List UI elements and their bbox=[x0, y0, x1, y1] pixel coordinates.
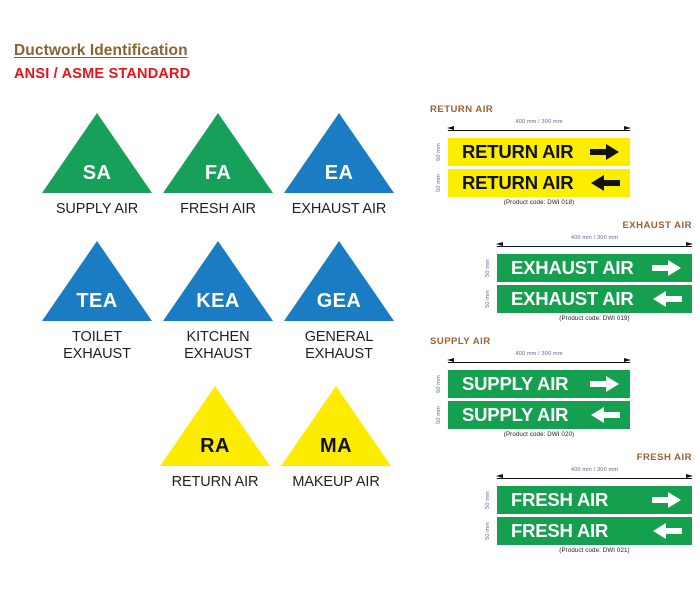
height-dimension: 50 mm bbox=[479, 254, 497, 282]
product-code: (Product code: DWI 019) bbox=[497, 315, 692, 322]
legend-item-ea: EA EXHAUST AIR bbox=[282, 112, 396, 218]
page-subtitle: ANSI / ASME STANDARD bbox=[14, 66, 190, 82]
marker-section-heading: SUPPLY AIR bbox=[430, 336, 692, 347]
width-dimension-label: 400 mm / 300 mm bbox=[497, 235, 692, 241]
marker-band-label: FRESH AIR bbox=[511, 489, 648, 511]
legend-row: SA SUPPLY AIR FA FRESH AIR E bbox=[40, 112, 410, 218]
legend-caption: SUPPLY AIR bbox=[56, 201, 138, 218]
marker-band-right: FRESH AIR bbox=[497, 486, 692, 514]
height-dimension: 50 mm bbox=[479, 285, 497, 313]
width-dimension: 400 mm / 300 mm bbox=[448, 120, 630, 135]
marker-band-left: FRESH AIR bbox=[497, 517, 692, 545]
triangle-sa: SA bbox=[41, 112, 153, 194]
triangle-code: FA bbox=[162, 162, 274, 185]
legend-item-fa: FA FRESH AIR bbox=[161, 112, 275, 218]
marker-band-row: 50 mm SUPPLY AIR bbox=[430, 401, 630, 429]
height-dimension: 50 mm bbox=[479, 517, 497, 545]
marker-band-label: SUPPLY AIR bbox=[462, 373, 586, 395]
legend-item-tea: TEA TOILET EXHAUST bbox=[40, 240, 154, 363]
dimension-line bbox=[497, 246, 692, 247]
triangle-kea: KEA bbox=[162, 240, 274, 322]
marker-band-left: SUPPLY AIR bbox=[448, 401, 630, 429]
marker-section-exhaust-air: EXHAUST AIR 400 mm / 300 mm 50 mm bbox=[430, 220, 692, 322]
marker-band-row: 50 mm EXHAUST AIR bbox=[479, 254, 692, 282]
ductwork-identification-chart: Ductwork Identification ANSI / ASME STAN… bbox=[0, 0, 700, 600]
width-dimension: 400 mm / 300 mm bbox=[448, 352, 630, 367]
height-dimension-label: 50 mm bbox=[485, 259, 491, 277]
legend-caption: KITCHEN EXHAUST bbox=[184, 329, 252, 363]
triangle-gea: GEA bbox=[283, 240, 395, 322]
arrow-left-icon bbox=[652, 290, 682, 308]
marker-band-row: 50 mm FRESH AIR bbox=[479, 517, 692, 545]
height-dimension: 50 mm bbox=[430, 169, 448, 197]
triangle-code: EA bbox=[283, 162, 395, 185]
dimension-arrow-left-icon bbox=[496, 242, 503, 246]
marker-band-label: RETURN AIR bbox=[462, 141, 586, 163]
triangle-code: MA bbox=[280, 435, 392, 458]
marker-band-row: 50 mm SUPPLY AIR bbox=[430, 370, 630, 398]
marker-band-row: 50 mm EXHAUST AIR bbox=[479, 285, 692, 313]
width-dimension-label: 400 mm / 300 mm bbox=[448, 119, 630, 125]
legend-item-gea: GEA GENERAL EXHAUST bbox=[282, 240, 396, 363]
height-dimension-label: 50 mm bbox=[485, 290, 491, 308]
triangle-ea: EA bbox=[283, 112, 395, 194]
arrow-right-icon bbox=[652, 491, 682, 509]
height-dimension: 50 mm bbox=[430, 370, 448, 398]
arrow-right-icon bbox=[590, 375, 620, 393]
marker-section-heading: FRESH AIR bbox=[430, 452, 692, 463]
marker-section-heading: RETURN AIR bbox=[430, 104, 692, 115]
product-code: (Product code: DWI 018) bbox=[448, 199, 630, 206]
height-dimension-label: 50 mm bbox=[485, 491, 491, 509]
height-dimension-label: 50 mm bbox=[485, 522, 491, 540]
arrow-left-icon bbox=[590, 406, 620, 424]
triangle-code: KEA bbox=[162, 290, 274, 313]
marker-band-left: RETURN AIR bbox=[448, 169, 630, 197]
marker-section-return-air: RETURN AIR 400 mm / 300 mm 50 mm bbox=[430, 104, 692, 206]
triangle-ra: RA bbox=[159, 385, 271, 467]
legend-item-ra: RA RETURN AIR bbox=[158, 385, 272, 491]
triangle-ma: MA bbox=[280, 385, 392, 467]
marker-band-row: 50 mm FRESH AIR bbox=[479, 486, 692, 514]
legend-item-sa: SA SUPPLY AIR bbox=[40, 112, 154, 218]
legend-item-ma: MA MAKEUP AIR bbox=[279, 385, 393, 491]
dimension-arrow-left-icon bbox=[496, 474, 503, 478]
duct-marker-specs: RETURN AIR 400 mm / 300 mm 50 mm bbox=[430, 104, 692, 554]
dimension-arrow-left-icon bbox=[447, 358, 454, 362]
legend-caption: RETURN AIR bbox=[172, 474, 259, 491]
dimension-line bbox=[497, 478, 692, 479]
marker-section-heading: EXHAUST AIR bbox=[430, 220, 692, 231]
product-code: (Product code: DWI 020) bbox=[448, 431, 630, 438]
marker-band-row: 50 mm RETURN AIR bbox=[430, 138, 630, 166]
legend-caption: GENERAL EXHAUST bbox=[305, 329, 374, 363]
dimension-arrow-right-icon bbox=[624, 358, 631, 362]
marker-band-left: EXHAUST AIR bbox=[497, 285, 692, 313]
legend-caption: MAKEUP AIR bbox=[292, 474, 379, 491]
legend-caption: TOILET EXHAUST bbox=[63, 329, 131, 363]
marker-band-right: EXHAUST AIR bbox=[497, 254, 692, 282]
height-dimension: 50 mm bbox=[430, 401, 448, 429]
dimension-arrow-left-icon bbox=[447, 126, 454, 130]
width-dimension: 400 mm / 300 mm bbox=[497, 468, 692, 483]
legend-caption: EXHAUST AIR bbox=[292, 201, 387, 218]
arrow-left-icon bbox=[590, 174, 620, 192]
marker-band-label: FRESH AIR bbox=[511, 520, 648, 542]
dimension-arrow-right-icon bbox=[624, 126, 631, 130]
height-dimension: 50 mm bbox=[430, 138, 448, 166]
dimension-arrow-right-icon bbox=[686, 242, 693, 246]
legend-caption: FRESH AIR bbox=[180, 201, 256, 218]
triangle-legend: SA SUPPLY AIR FA FRESH AIR E bbox=[40, 112, 410, 491]
marker-section-supply-air: SUPPLY AIR 400 mm / 300 mm 50 mm bbox=[430, 336, 692, 438]
dimension-line bbox=[448, 362, 630, 363]
height-dimension-label: 50 mm bbox=[436, 406, 442, 424]
marker-band-label: RETURN AIR bbox=[462, 172, 586, 194]
triangle-code: RA bbox=[159, 435, 271, 458]
width-dimension-label: 400 mm / 300 mm bbox=[448, 351, 630, 357]
dimension-line bbox=[448, 130, 630, 131]
product-code: (Product code: DWI 021) bbox=[497, 547, 692, 554]
height-dimension-label: 50 mm bbox=[436, 375, 442, 393]
title-block: Ductwork Identification ANSI / ASME STAN… bbox=[14, 42, 190, 82]
height-dimension-label: 50 mm bbox=[436, 174, 442, 192]
marker-band-label: EXHAUST AIR bbox=[511, 257, 648, 279]
triangle-code: SA bbox=[41, 162, 153, 185]
triangle-fa: FA bbox=[162, 112, 274, 194]
triangle-tea: TEA bbox=[41, 240, 153, 322]
legend-item-kea: KEA KITCHEN EXHAUST bbox=[161, 240, 275, 363]
legend-row: RA RETURN AIR MA MAKEUP AIR bbox=[158, 385, 410, 491]
legend-row: TEA TOILET EXHAUST KEA KITCHEN EXHAUST bbox=[40, 240, 410, 363]
page-title: Ductwork Identification bbox=[14, 42, 190, 60]
arrow-right-icon bbox=[590, 143, 620, 161]
width-dimension: 400 mm / 300 mm bbox=[497, 236, 692, 251]
marker-band-row: 50 mm RETURN AIR bbox=[430, 169, 630, 197]
marker-band-label: EXHAUST AIR bbox=[511, 288, 648, 310]
height-dimension-label: 50 mm bbox=[436, 143, 442, 161]
width-dimension-label: 400 mm / 300 mm bbox=[497, 467, 692, 473]
marker-band-right: SUPPLY AIR bbox=[448, 370, 630, 398]
arrow-right-icon bbox=[652, 259, 682, 277]
arrow-left-icon bbox=[652, 522, 682, 540]
triangle-code: GEA bbox=[283, 290, 395, 313]
marker-band-right: RETURN AIR bbox=[448, 138, 630, 166]
triangle-code: TEA bbox=[41, 290, 153, 313]
marker-band-label: SUPPLY AIR bbox=[462, 404, 586, 426]
dimension-arrow-right-icon bbox=[686, 474, 693, 478]
height-dimension: 50 mm bbox=[479, 486, 497, 514]
marker-section-fresh-air: FRESH AIR 400 mm / 300 mm 50 mm F bbox=[430, 452, 692, 554]
